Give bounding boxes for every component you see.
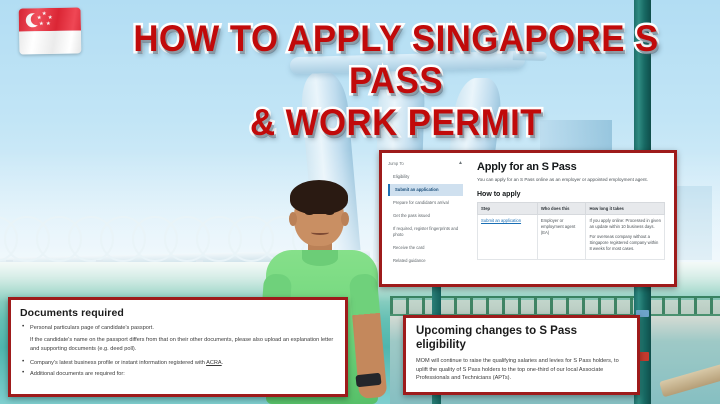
screenshot-sidebar: Jump To ▲ Eligibility Submit an applicat…: [382, 153, 468, 284]
column-header-who-does-this: Who does this: [537, 202, 586, 214]
documents-required-card[interactable]: Documents required Personal particulars …: [8, 297, 348, 397]
sidebar-item-related-guidance[interactable]: Related guidance: [388, 255, 463, 267]
sidebar-item-receive-the-card[interactable]: Receive the card: [388, 242, 463, 254]
how-long-paragraph-1: If you apply online: Processed in given …: [589, 218, 661, 230]
cell-how-long-it-takes: If you apply online: Processed in given …: [586, 214, 665, 259]
list-item: Company's latest business profile or ins…: [20, 359, 336, 367]
screenshot-sidebar-list: Eligibility Submit an application Prepar…: [388, 171, 463, 267]
documents-required-heading: Documents required: [20, 307, 336, 319]
screenshot-section-heading: How to apply: [477, 191, 665, 198]
table-row: Submit an application Employer or employ…: [478, 214, 665, 259]
thumbnail-canvas: 2 ★ ★ ★ ★ ★ HOW TO APPLY SINGAPORE S PAS…: [0, 0, 720, 404]
cell-who-does-this: Employer or employment agent (EA): [537, 214, 586, 259]
documents-required-list: Personal particulars page of candidate's…: [20, 324, 336, 332]
screenshot-intro-text: You can apply for an S Pass online as an…: [477, 177, 665, 184]
screenshot-heading: Apply for an S Pass: [477, 161, 665, 173]
sidebar-item-eligibility[interactable]: Eligibility: [388, 171, 463, 183]
table-header-row: Step Who does this How long it takes: [478, 202, 665, 214]
column-header-how-long-it-takes: How long it takes: [586, 202, 665, 214]
how-to-apply-table: Step Who does this How long it takes Sub…: [477, 202, 665, 260]
upcoming-changes-body: MOM will continue to raise the qualifyin…: [416, 357, 627, 383]
sidebar-item-prepare-for-arrival[interactable]: Prepare for candidate's arrival: [388, 197, 463, 209]
sidebar-item-submit-an-application[interactable]: Submit an application: [388, 184, 463, 196]
cell-step-link[interactable]: Submit an application: [478, 214, 538, 259]
upcoming-changes-card[interactable]: Upcoming changes to S Pass eligibility M…: [403, 315, 640, 395]
documents-sub-paragraph: If the candidate's name on the passport …: [20, 336, 336, 353]
chevron-up-icon[interactable]: ▲: [458, 160, 463, 166]
sidebar-item-register-fingerprints[interactable]: If required, register fingerprints and p…: [388, 223, 463, 241]
documents-required-list-2: Company's latest business profile or ins…: [20, 359, 336, 379]
list-item: Personal particulars page of candidate's…: [20, 324, 336, 332]
upcoming-changes-heading: Upcoming changes to S Pass eligibility: [416, 325, 627, 352]
how-long-paragraph-2: For overseas company without a Singapore…: [589, 234, 661, 252]
mom-website-screenshot-card[interactable]: Jump To ▲ Eligibility Submit an applicat…: [379, 150, 677, 287]
list-item: Additional documents are required for:: [20, 370, 336, 378]
column-header-step: Step: [478, 202, 538, 214]
sidebar-item-get-the-pass-issued[interactable]: Get the pass issued: [388, 210, 463, 222]
singapore-flag-icon: ★ ★ ★ ★ ★: [19, 7, 82, 54]
jump-to-label: Jump To: [388, 161, 404, 166]
screenshot-main-content: Apply for an S Pass You can apply for an…: [468, 153, 674, 284]
acra-link[interactable]: ACRA: [206, 360, 222, 366]
